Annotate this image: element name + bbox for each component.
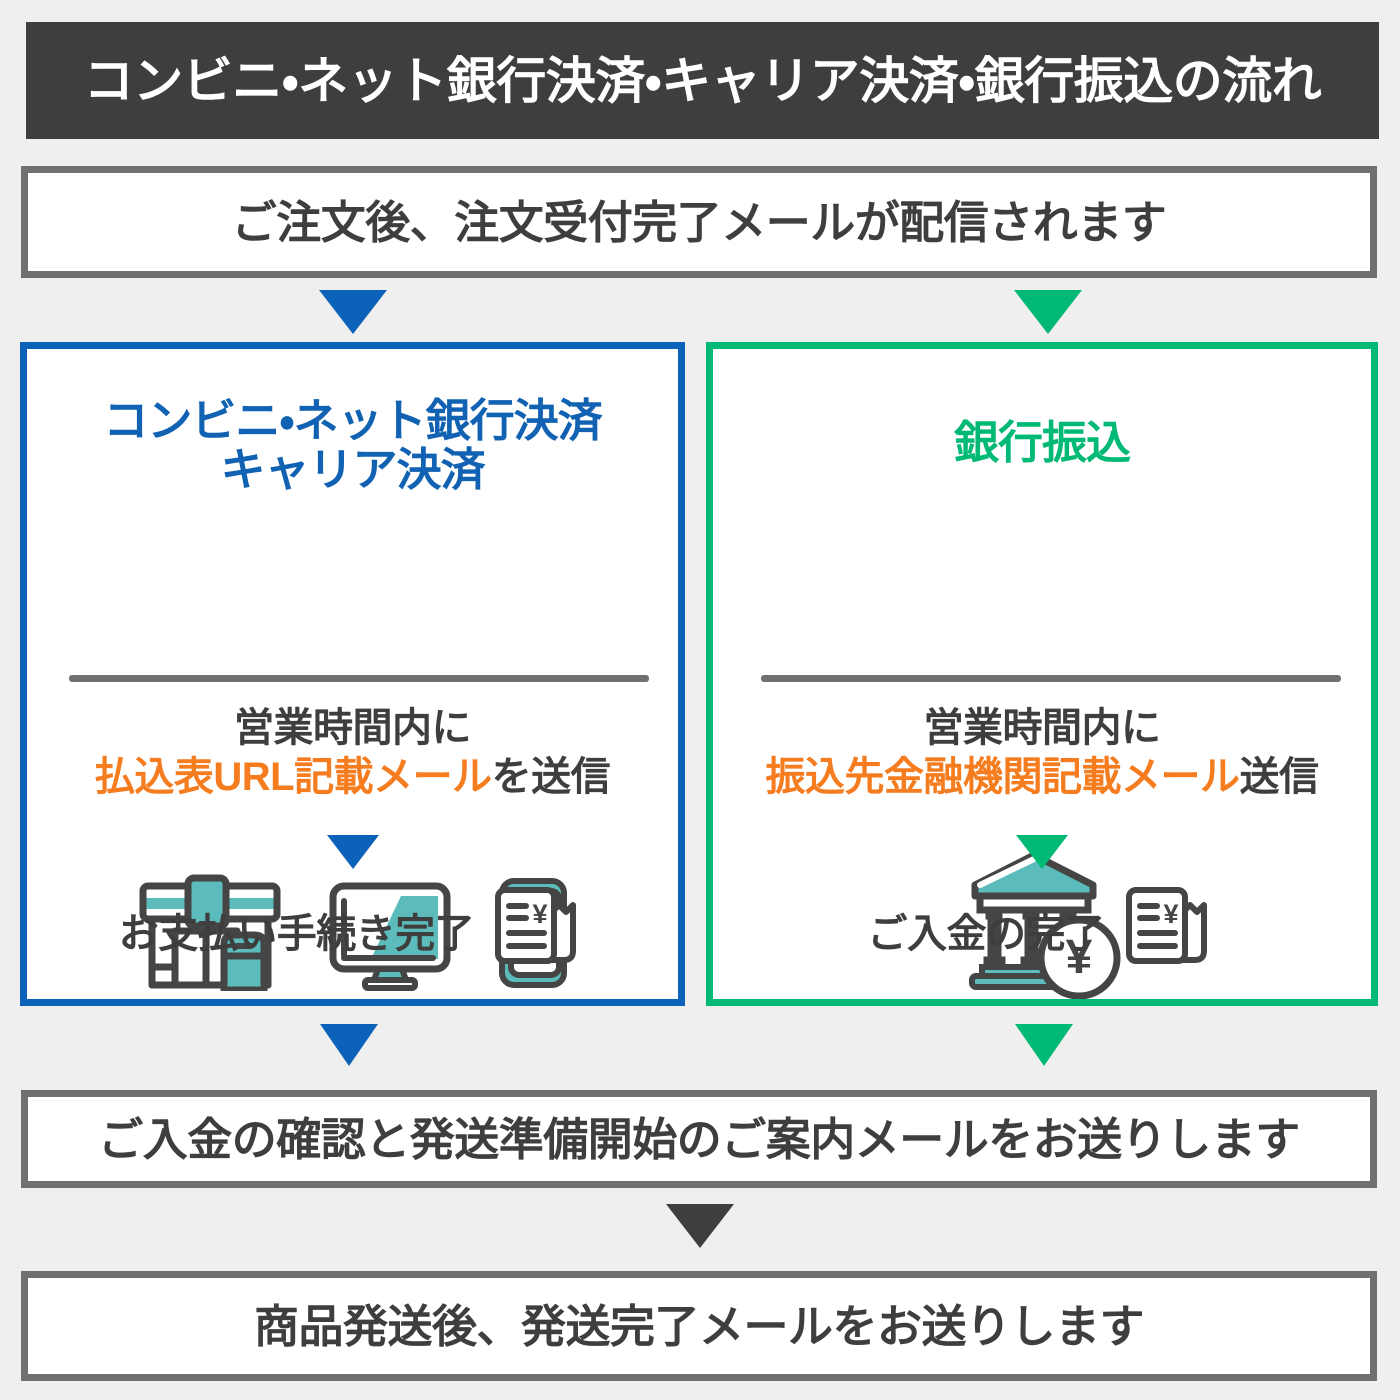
step-shipped-label: 商品発送後、発送完了メールをお送りします (254, 1304, 1144, 1349)
method-notice-prefix: 営業時間内に (234, 706, 471, 750)
panel-divider (69, 675, 649, 682)
page-title: コンビニ・ネット銀行決済・キャリア決済・銀行振込の流れ (84, 56, 1322, 106)
method-notice-suffix: を送信 (492, 755, 611, 799)
method-title-bank-transfer: 銀行振込 (713, 419, 1371, 468)
method-notice-highlight: 払込表URL記載メール (95, 755, 492, 799)
method-completion-bank-transfer: ご入金の完了 ¥ (713, 885, 1371, 975)
svg-text:¥: ¥ (533, 899, 548, 929)
method-notice-highlight: 振込先金融機関記載メール (766, 755, 1240, 799)
step-order-confirmation-label: ご注文後、注文受付完了メールが配信されます (232, 200, 1167, 245)
method-title-convenience-store: コンビニ・ネット銀行決済 キャリア決済 (27, 397, 678, 494)
method-notice-bank-transfer: 営業時間内に 振込先金融機関記載メール送信 (713, 704, 1371, 802)
chevron-down-triangle-icon (320, 1024, 378, 1066)
chevron-down-triangle-icon (666, 1204, 734, 1248)
payment-flow-diagram: コンビニ・ネット銀行決済・キャリア決済・銀行振込の流れ ご注文後、注文受付完了メ… (0, 0, 1400, 1400)
chevron-down-triangle-icon (327, 835, 379, 869)
invoice-yen-icon: ¥ (1121, 885, 1217, 975)
step-order-confirmation-box: ご注文後、注文受付完了メールが配信されます (21, 166, 1377, 278)
method-notice-convenience-store: 営業時間内に 払込表URL記載メールを送信 (27, 704, 678, 802)
svg-text:¥: ¥ (1163, 899, 1178, 929)
chevron-down-triangle-icon (1014, 290, 1082, 334)
method-notice-suffix: 送信 (1240, 755, 1319, 799)
chevron-down-triangle-icon (319, 290, 387, 334)
step-shipped-box: 商品発送後、発送完了メールをお送りします (21, 1271, 1377, 1381)
method-panel-bank-transfer: 銀行振込 (706, 342, 1378, 1006)
panel-divider (761, 675, 1341, 682)
method-notice-prefix: 営業時間内に (924, 706, 1161, 750)
invoice-yen-icon: ¥ (490, 885, 586, 975)
page-title-bar: コンビニ・ネット銀行決済・キャリア決済・銀行振込の流れ (26, 22, 1379, 139)
chevron-down-triangle-icon (1016, 835, 1068, 869)
method-completion-label: ご入金の完了 (868, 901, 1105, 959)
step-payment-confirmed-label: ご入金の確認と発送準備開始のご案内メールをお送りします (98, 1117, 1300, 1162)
method-completion-convenience-store: お支払い手続き完了 ¥ (27, 885, 678, 975)
chevron-down-triangle-icon (1015, 1024, 1073, 1066)
step-payment-confirmed-box: ご入金の確認と発送準備開始のご案内メールをお送りします (21, 1090, 1377, 1188)
method-panel-convenience-store: コンビニ・ネット銀行決済 キャリア決済 (20, 342, 685, 1006)
method-completion-label: お支払い手続き完了 (119, 901, 475, 959)
inner-arrow-wrapper-left (27, 835, 678, 869)
inner-arrow-wrapper-right (713, 835, 1371, 869)
